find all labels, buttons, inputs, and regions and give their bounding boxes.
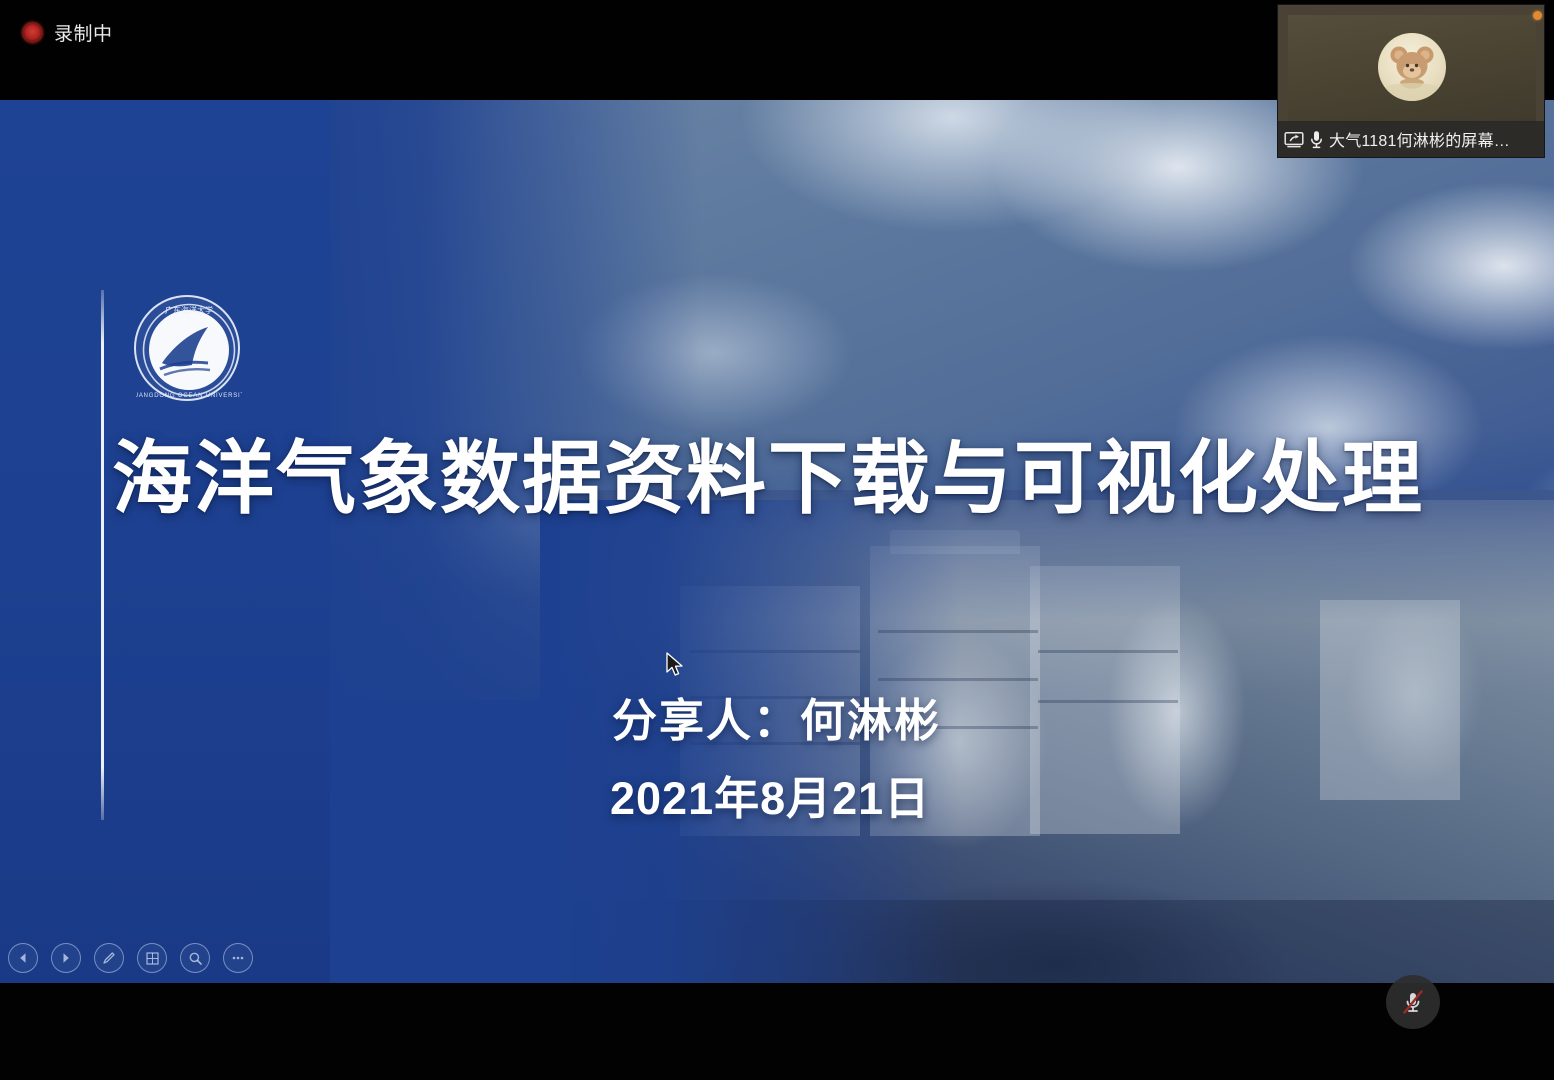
shared-screen-slide: 广东海洋大学 GUANGDONG OCEAN UNIVERSITY 海洋气象数据… — [0, 100, 1554, 983]
svg-text:广东海洋大学: 广东海洋大学 — [165, 305, 213, 315]
guangdong-ocean-university-logo: 广东海洋大学 GUANGDONG OCEAN UNIVERSITY — [134, 295, 240, 401]
bottom-letterbox-bar — [0, 983, 1554, 1080]
vertical-accent-rule — [101, 290, 104, 820]
logo-emblem-icon: 广东海洋大学 GUANGDONG OCEAN UNIVERSITY — [136, 297, 242, 403]
participant-name-label: 大气1181何淋彬的屏幕… — [1329, 127, 1510, 151]
ellipsis-icon — [230, 950, 246, 966]
orange-status-dot — [1533, 11, 1542, 20]
participant-video-feed — [1288, 15, 1536, 123]
slide-presenter: 分享人：何淋彬 — [612, 684, 941, 749]
previous-slide-button[interactable] — [8, 943, 38, 973]
participant-video-thumbnail[interactable]: 大气1181何淋彬的屏幕… — [1277, 4, 1545, 158]
slide-overview-button[interactable] — [137, 943, 167, 973]
microphone-mute-button[interactable] — [1386, 975, 1440, 1029]
recording-indicator: 录制中 — [22, 19, 113, 46]
slideshow-toolbar — [8, 943, 253, 973]
screen-share-icon — [1284, 131, 1304, 148]
participant-label-bar: 大气1181何淋彬的屏幕… — [1278, 121, 1545, 157]
slide-date: 2021年8月21日 — [610, 762, 930, 827]
mouse-cursor-icon — [666, 652, 684, 678]
recording-label: 录制中 — [54, 19, 113, 46]
slide-left-panel — [0, 100, 330, 983]
bear-avatar-icon — [1378, 33, 1446, 101]
slide-title: 海洋气象数据资料下载与可视化处理 — [112, 438, 1492, 520]
microphone-icon — [1310, 130, 1323, 149]
more-options-button[interactable] — [223, 943, 253, 973]
next-slide-button[interactable] — [51, 943, 81, 973]
avatar — [1378, 33, 1446, 101]
pen-annotate-button[interactable] — [94, 943, 124, 973]
pen-icon — [101, 950, 117, 966]
record-dot-icon — [22, 22, 43, 43]
grid-icon — [145, 951, 160, 966]
svg-text:GUANGDONG OCEAN UNIVERSITY: GUANGDONG OCEAN UNIVERSITY — [136, 393, 242, 399]
magnifier-icon — [188, 951, 203, 966]
microphone-muted-icon — [1398, 987, 1428, 1017]
zoom-button[interactable] — [180, 943, 210, 973]
chevron-left-icon — [16, 951, 30, 965]
chevron-right-icon — [59, 951, 73, 965]
screen-root: 广东海洋大学 GUANGDONG OCEAN UNIVERSITY 海洋气象数据… — [0, 0, 1554, 1080]
